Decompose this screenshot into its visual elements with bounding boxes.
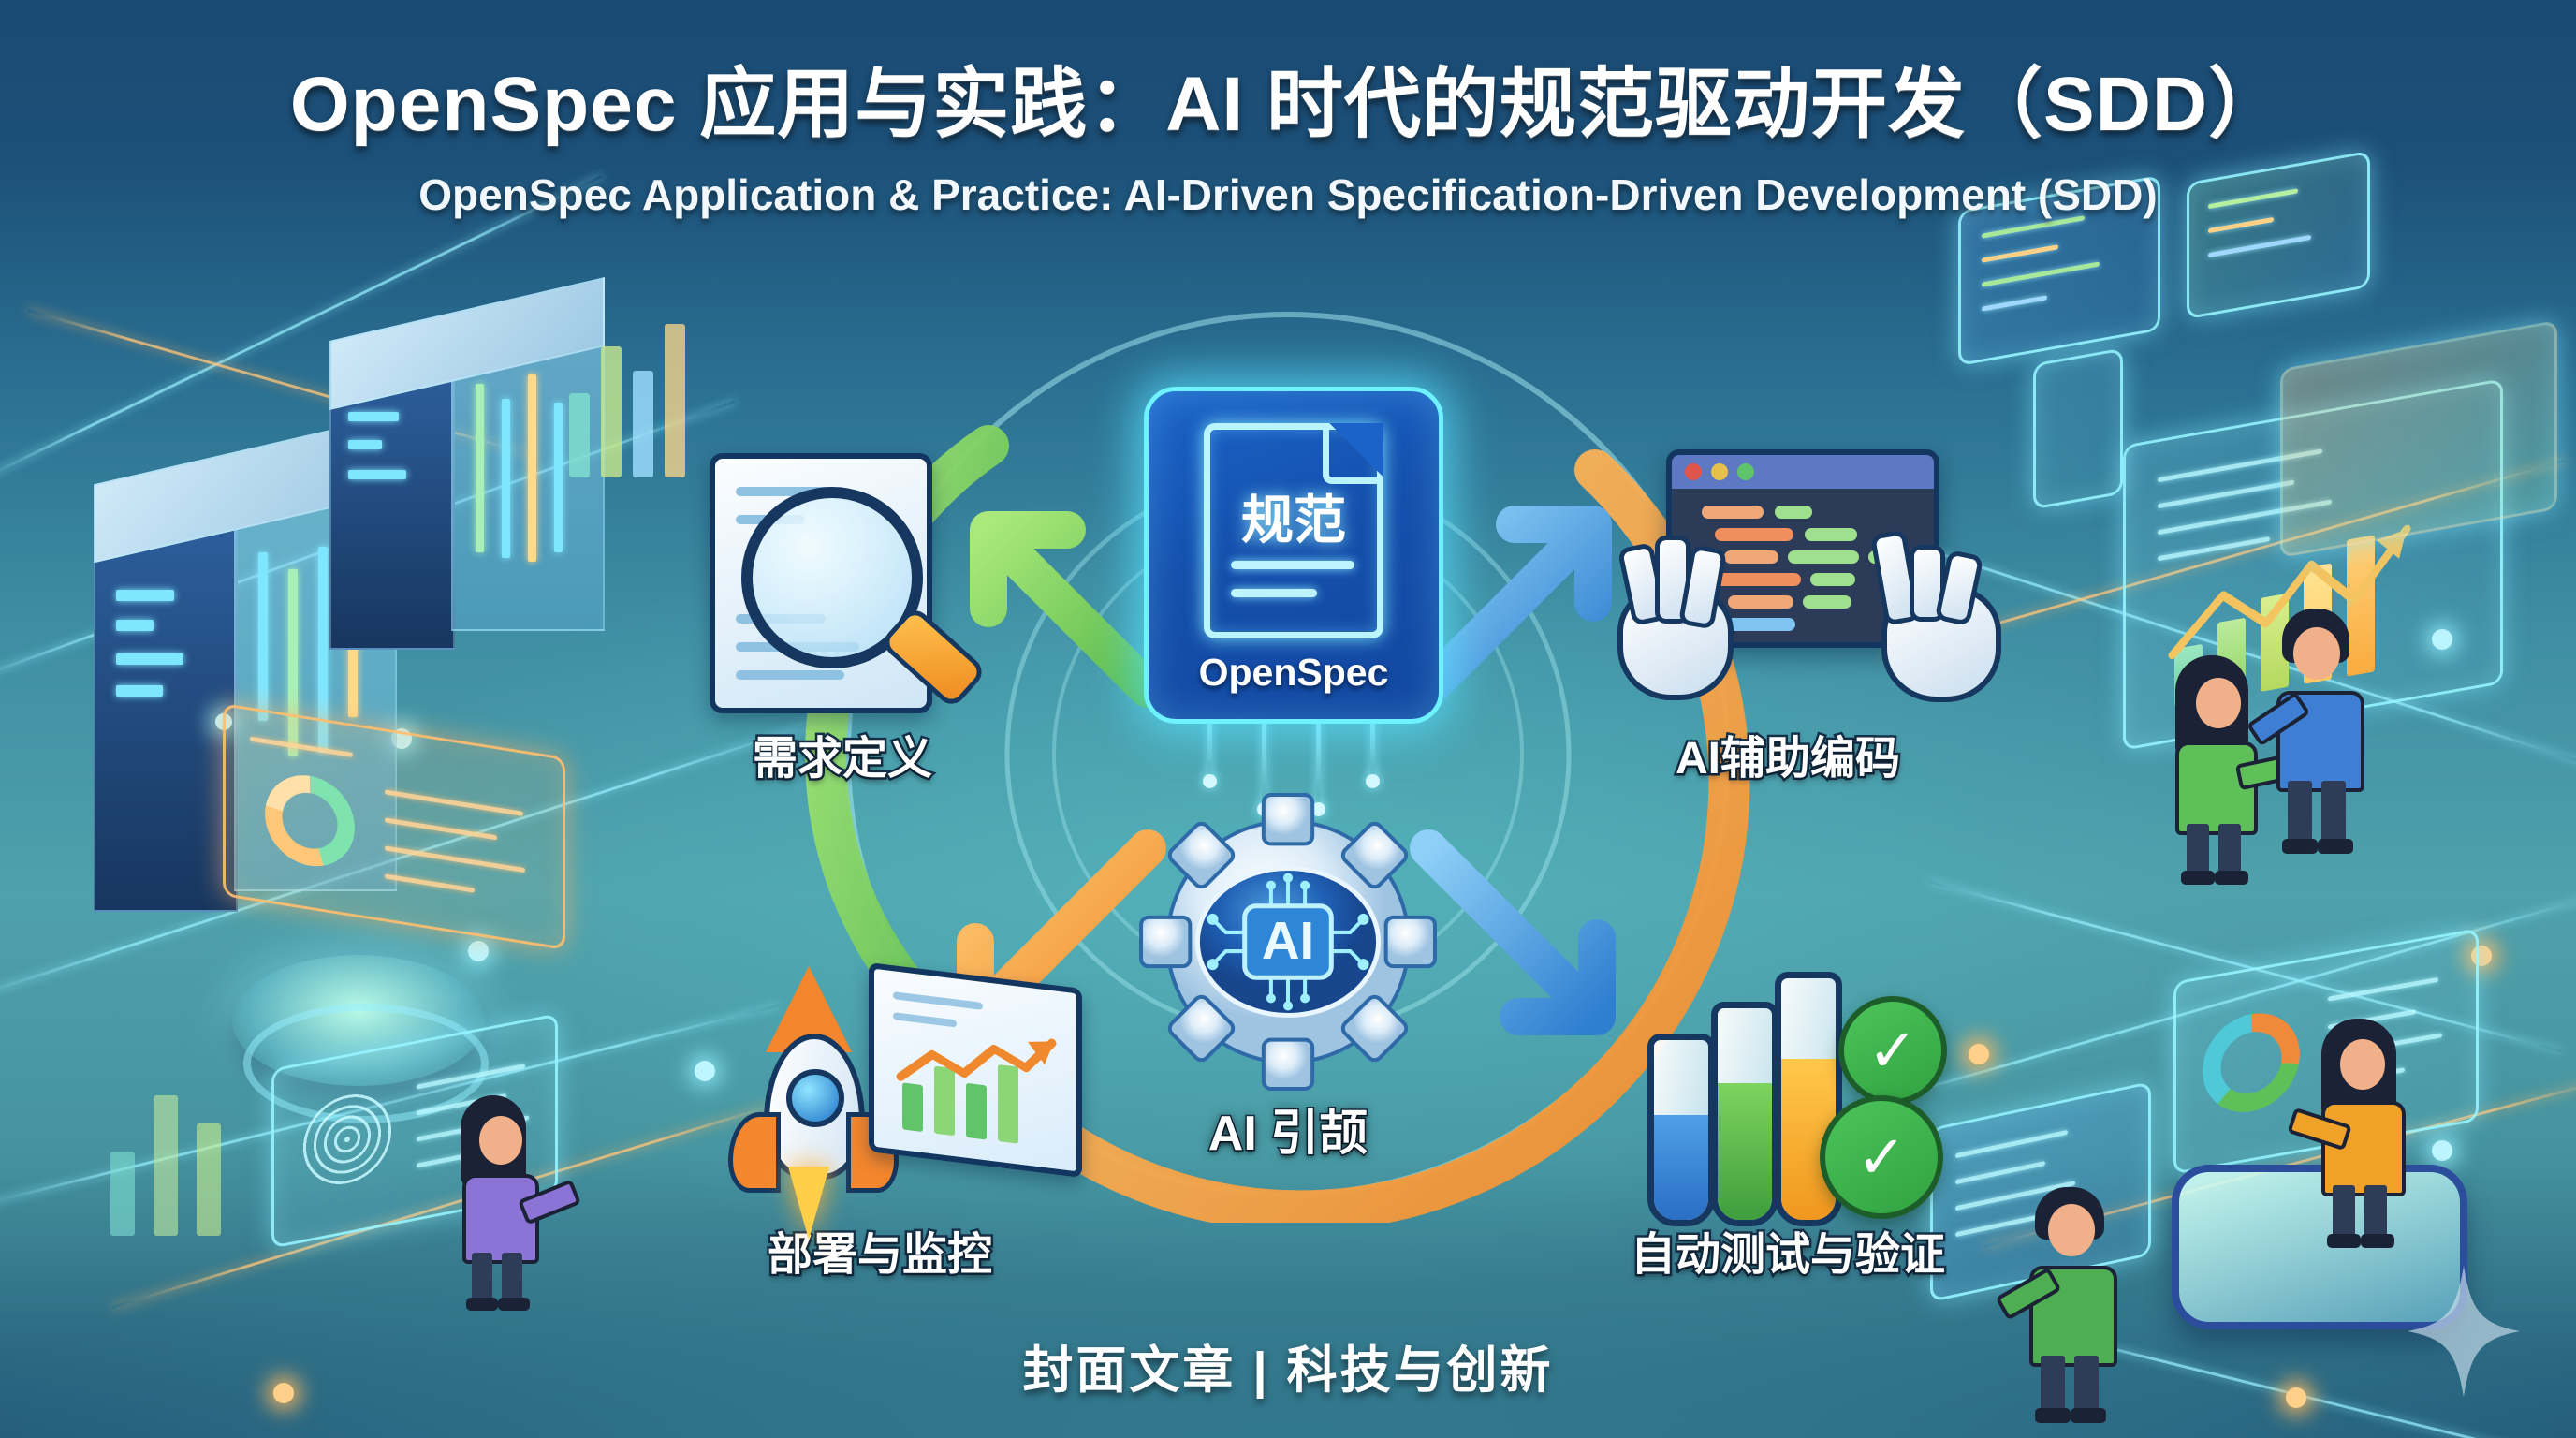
- ai-chip-text: AI: [1262, 911, 1314, 970]
- stage-label: 自动测试与验证: [1544, 1217, 2031, 1283]
- poster-canvas: OpenSpec 应用与实践：AI 时代的规范驱动开发（SDD） OpenSpe…: [0, 0, 2576, 1438]
- page-subtitle: OpenSpec Application & Practice: AI-Driv…: [0, 169, 2576, 220]
- robot-hands-code-editor-icon: [1573, 440, 2003, 721]
- stage-testing[interactable]: ✓ ✓ 自动测试与验证: [1544, 955, 2031, 1283]
- ai-hub-label: AI 引颉: [1076, 1093, 1500, 1164]
- person-figure: [2299, 1019, 2430, 1253]
- footer-caption: 封面文章 | 科技与创新: [0, 1328, 2576, 1402]
- side-panel: [2033, 348, 2123, 510]
- title-block: OpenSpec 应用与实践：AI 时代的规范驱动开发（SDD） OpenSpe…: [0, 41, 2576, 220]
- test-tubes-check-icon: ✓ ✓: [1544, 955, 2031, 1217]
- donut-chart-icon: [265, 769, 355, 873]
- stage-label: AI辅助编码: [1573, 721, 2003, 786]
- network-node: [2432, 1140, 2452, 1161]
- person-figure: [438, 1095, 560, 1311]
- stage-deploy[interactable]: 部署与监控: [683, 955, 1076, 1283]
- window-close-dot: [1685, 463, 1702, 480]
- bar-chart-decor: [110, 1049, 279, 1236]
- network-node: [468, 941, 489, 961]
- check-badge-icon: ✓: [1820, 1095, 1943, 1219]
- donut-chart-icon: [2203, 1005, 2300, 1120]
- person-figure: [2258, 609, 2398, 871]
- page-fold-icon: [1323, 423, 1383, 484]
- window-maximize-dot: [1737, 463, 1754, 480]
- robot-hand-left-icon: [1606, 541, 1747, 700]
- stage-label: 部署与监控: [683, 1217, 1076, 1283]
- document-magnifier-icon: [655, 440, 1030, 721]
- robot-hand-right-icon: [1855, 532, 2005, 700]
- stage-ai-coding[interactable]: AI辅助编码: [1573, 440, 2003, 786]
- fingerprint-icon: [300, 1083, 394, 1195]
- ai-gear-hub[interactable]: AI: [1137, 791, 1439, 1093]
- rocket-dashboard-icon: [683, 955, 1076, 1217]
- page-title: OpenSpec 应用与实践：AI 时代的规范驱动开发（SDD）: [0, 41, 2576, 153]
- spec-doc-text: 规范: [1210, 478, 1377, 554]
- openspec-card[interactable]: 规范 OpenSpec: [1144, 387, 1443, 724]
- stage-requirements[interactable]: 需求定义: [655, 440, 1030, 786]
- check-badge-icon: ✓: [1838, 996, 1947, 1105]
- secondary-chart-panel: [2280, 320, 2557, 558]
- server-tower-icon: [329, 309, 610, 702]
- spec-document-icon: 规范: [1204, 423, 1383, 638]
- stage-label: 需求定义: [655, 721, 1030, 786]
- openspec-card-label: OpenSpec: [1149, 651, 1439, 695]
- window-minimize-dot: [1711, 463, 1728, 480]
